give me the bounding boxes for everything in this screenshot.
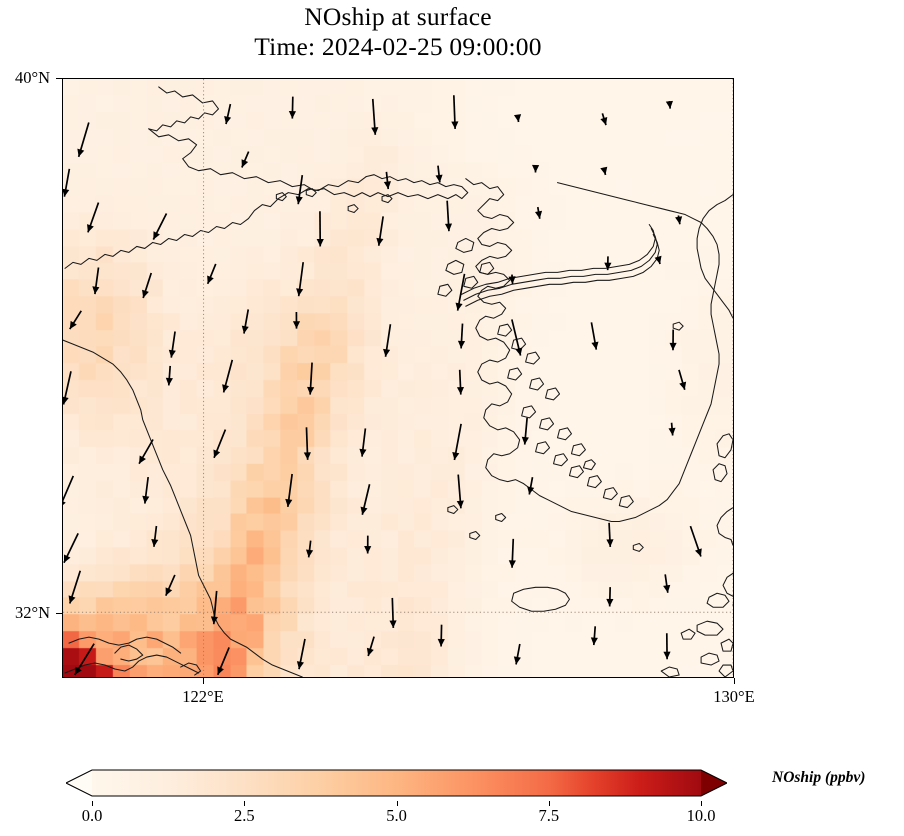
colorbar-tick-label: 0.0 [52,806,132,826]
x-axis-tick-mark [203,678,204,684]
y-axis-tick-mark [56,78,62,79]
colorbar-tick-label: 2.5 [204,806,284,826]
title-line-variable: NOship at surface [62,2,734,32]
y-axis-tick-label: 32°N [0,603,50,623]
y-axis-tick-label: 40°N [0,68,50,88]
colorbar-tick-label: 10.0 [661,806,741,826]
wind-vector-overlay [63,79,733,677]
colorbar[interactable] [66,766,727,804]
map-plot-area[interactable] [62,78,734,678]
colorbar-gradient [66,766,727,804]
x-axis-tick-label: 122°E [143,687,263,707]
figure-title: NOship at surface Time: 2024-02-25 09:00… [62,2,734,62]
colorbar-tick-label: 5.0 [357,806,437,826]
colorbar-tick-label: 7.5 [509,806,589,826]
figure-canvas: NOship at surface Time: 2024-02-25 09:00… [0,0,904,836]
y-axis-tick-mark [56,613,62,614]
title-line-time: Time: 2024-02-25 09:00:00 [62,32,734,62]
x-axis-tick-label: 130°E [674,687,794,707]
colorbar-label: NOship (ppbv) [772,769,865,787]
x-axis-tick-mark [734,678,735,684]
